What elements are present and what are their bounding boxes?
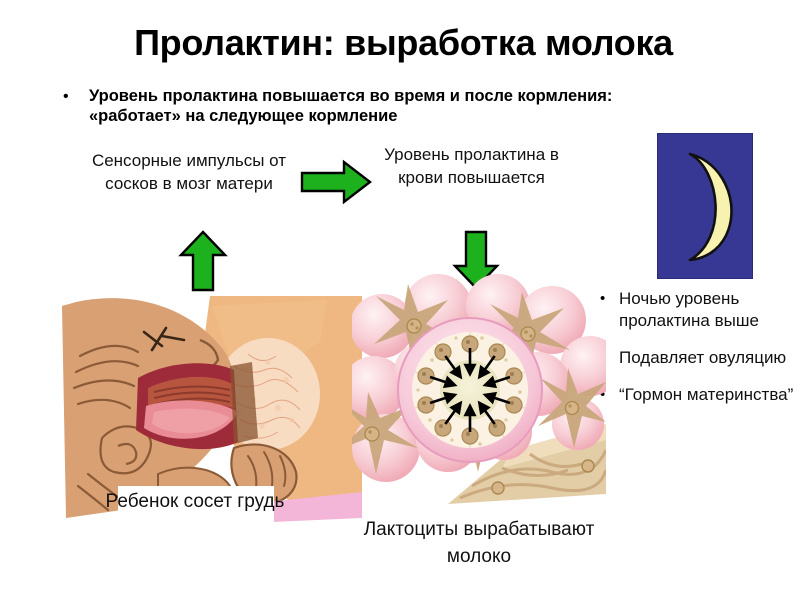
right-bullet-text-3: “Гормон материнства”: [619, 384, 793, 406]
flow-label-blood: Уровень пролактина в крови повышается: [370, 143, 573, 189]
main-bullet: • Уровень пролактина повышается во время…: [58, 86, 668, 126]
bullet-marker: •: [58, 86, 89, 126]
arrow-right-icon: [300, 160, 372, 204]
night-moon-card: [657, 133, 753, 279]
slide-canvas: Пролактин: выработка молока • Уровень пр…: [0, 0, 807, 604]
page-title: Пролактин: выработка молока: [0, 22, 807, 64]
main-bullet-text: Уровень пролактина повышается во время и…: [89, 86, 668, 126]
right-bullet-text-2: Подавляет овуляцию: [619, 347, 786, 369]
list-item: • “Гормон материнства”: [600, 384, 805, 406]
right-bullet-list: • Ночью уровень пролактина выше • Подавл…: [600, 288, 805, 421]
list-item: • Ночью уровень пролактина выше: [600, 288, 805, 332]
crescent-moon-icon: [658, 134, 752, 278]
alveoli-lactocytes-illustration: [352, 272, 606, 512]
caption-alveoli: Лактоциты вырабатывают молоко: [348, 516, 610, 570]
caption-baby: Ребенок сосет грудь: [70, 488, 320, 516]
right-bullet-text-1: Ночью уровень пролактина выше: [619, 288, 805, 332]
flow-label-sensory: Сенсорные импульсы от сосков в мозг мате…: [83, 149, 295, 195]
list-item: • Подавляет овуляцию: [600, 347, 805, 369]
arrow-up-icon: [178, 230, 228, 292]
